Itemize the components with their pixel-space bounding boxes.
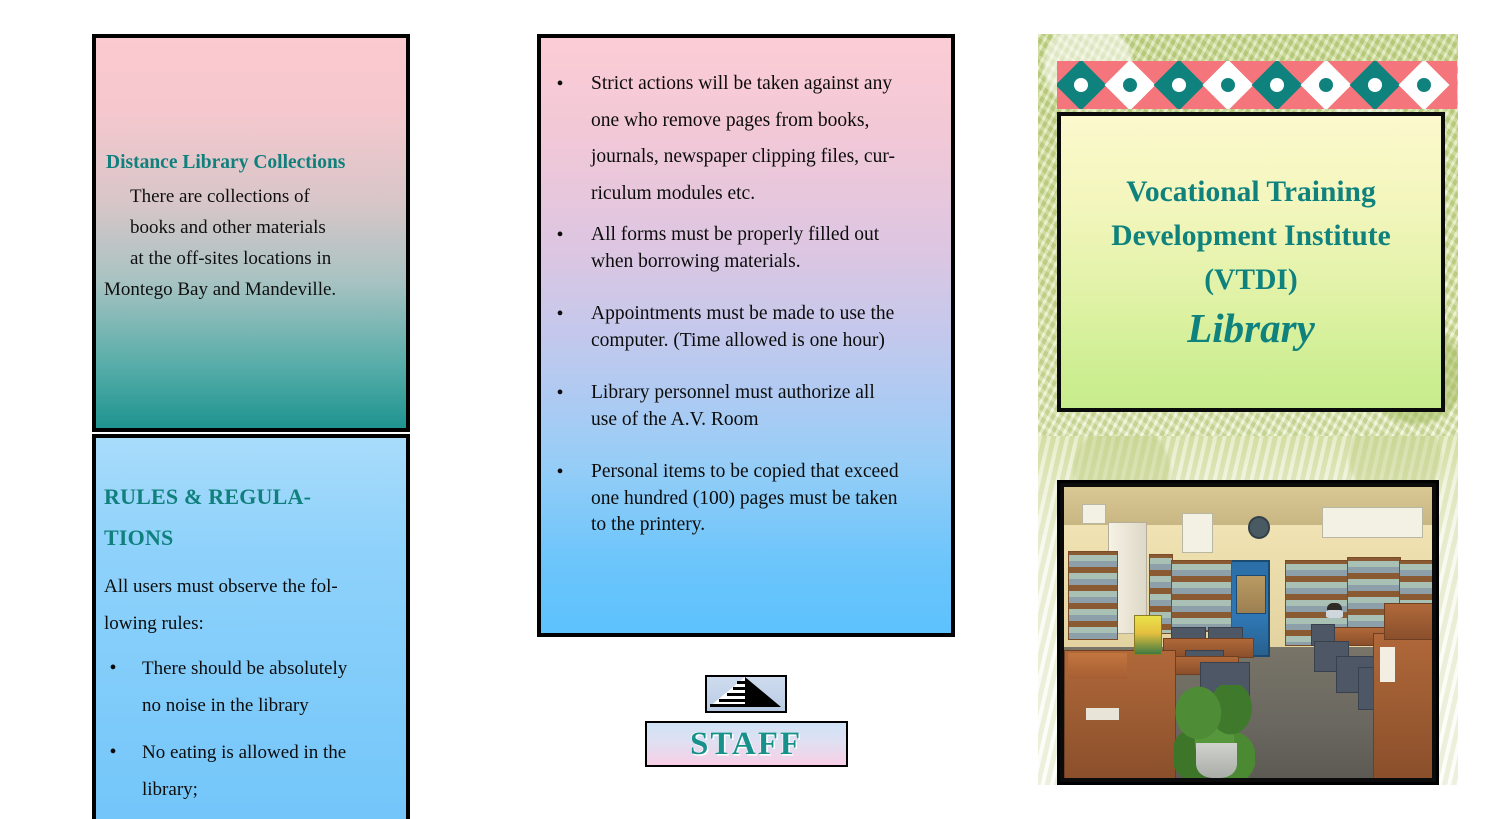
- diamond-dot: [1365, 75, 1385, 95]
- distance-collections-panel: Distance Library Collections There are c…: [92, 34, 410, 432]
- list-item-line: journals, newspaper clipping files, cur-: [591, 146, 895, 167]
- photo-plant-pot: [1196, 743, 1236, 778]
- photo-content: [1064, 487, 1432, 778]
- rules-intro-line: All users must observe the fol-: [100, 568, 398, 605]
- rules-bullet-list: • There should be absolutely no noise in…: [100, 650, 398, 808]
- title-line-2: Development Institute: [1111, 214, 1390, 258]
- list-item-line: computer. (Time allowed is one hour): [591, 330, 885, 351]
- list-item-line: one who remove pages from books,: [591, 110, 869, 131]
- list-item-line: riculum modules etc.: [591, 183, 755, 204]
- bullet-icon: •: [553, 222, 567, 249]
- photo-paper: [1380, 647, 1395, 682]
- diamond-icon: [1105, 61, 1156, 109]
- right-panel-column: Vocational Training Development Institut…: [1038, 34, 1458, 785]
- rules-continued-list: • Strict actions will be taken against a…: [545, 66, 941, 539]
- list-item-line: use of the A.V. Room: [591, 409, 759, 430]
- bullet-icon: •: [553, 66, 567, 103]
- list-item-line: Personal items to be copied that exceed: [591, 461, 899, 482]
- photo-bookshelf: [1171, 560, 1232, 632]
- rules-intro-line: lowing rules:: [100, 605, 398, 642]
- list-item-line: Appointments must be made to use the: [591, 303, 894, 324]
- list-item-line: Library personnel must authorize all: [591, 382, 875, 403]
- diamond-icon: [1350, 61, 1401, 109]
- photo-door-window: [1236, 575, 1266, 614]
- list-item-line: library;: [142, 779, 198, 800]
- photo-book-display: [1134, 615, 1162, 655]
- bullet-icon: •: [553, 380, 567, 407]
- photo-bookshelf: [1068, 551, 1118, 640]
- diamond-icon: [1203, 61, 1254, 109]
- photo-poster: [1182, 513, 1213, 553]
- library-interior-photo: [1057, 480, 1439, 785]
- list-item-line: There should be absolutely: [142, 658, 347, 679]
- photo-books: [1086, 708, 1119, 720]
- diamond-icon: [1399, 61, 1450, 109]
- brochure-title-box: Vocational Training Development Institut…: [1057, 112, 1445, 412]
- middle-panel-column: • Strict actions will be taken against a…: [537, 34, 955, 637]
- diamond-icon: [1252, 61, 1303, 109]
- rules-intro: All users must observe the fol- lowing r…: [100, 568, 398, 642]
- diamond-border-band: [1057, 61, 1457, 109]
- list-item: • Strict actions will be taken against a…: [545, 66, 941, 212]
- list-item-line: when borrowing materials.: [591, 251, 801, 272]
- photo-shelf-top: [1068, 653, 1127, 679]
- bullet-icon: •: [106, 734, 120, 771]
- list-item-line: to the printery.: [591, 514, 705, 535]
- title-line-1: Vocational Training: [1126, 170, 1375, 214]
- list-item-line: Strict actions will be taken against any: [591, 73, 892, 94]
- diamond-dot: [1169, 75, 1189, 95]
- rules-heading: RULES & REGULA- TIONS: [104, 476, 398, 558]
- rules-continued-panel: • Strict actions will be taken against a…: [537, 34, 955, 637]
- photo-poster: [1322, 507, 1423, 538]
- distance-collections-line: at the off-sites locations in: [100, 243, 400, 274]
- staff-block: STAFF: [537, 675, 955, 767]
- diamond-icon: [1057, 61, 1106, 109]
- rules-and-regulations-panel: RULES & REGULA- TIONS All users must obs…: [92, 434, 410, 819]
- list-item: • There should be absolutely no noise in…: [100, 650, 398, 724]
- list-item-line: No eating is allowed in the: [142, 742, 346, 763]
- bullet-icon: •: [553, 301, 567, 328]
- photo-poster: [1082, 504, 1106, 523]
- diamond-dot: [1218, 75, 1238, 95]
- title-line-3: (VTDI): [1204, 258, 1297, 302]
- stairs-icon: [705, 675, 787, 713]
- list-item: • Personal items to be copied that excee…: [545, 459, 941, 539]
- bullet-icon: •: [106, 650, 120, 687]
- rules-heading-line1: RULES & REGULA-: [104, 476, 398, 517]
- photo-person: [1327, 603, 1342, 618]
- list-item: • No eating is allowed in the library;: [100, 734, 398, 808]
- list-item-line: All forms must be properly filled out: [591, 224, 879, 245]
- distance-collections-line: books and other materials: [100, 212, 400, 243]
- diamond-dot: [1316, 75, 1336, 95]
- list-item-line: one hundred (100) pages must be taken: [591, 488, 898, 509]
- list-item-line: no noise in the library: [142, 695, 309, 716]
- distance-collections-heading: Distance Library Collections: [106, 150, 400, 175]
- diamond-dot: [1414, 75, 1434, 95]
- list-item: • All forms must be properly filled out …: [545, 222, 941, 275]
- photo-cabinet: [1384, 603, 1432, 640]
- rules-heading-line2: TIONS: [104, 517, 398, 558]
- distance-collections-line: Montego Bay and Mandeville.: [100, 274, 400, 305]
- list-item: • Library personnel must authorize all u…: [545, 380, 941, 433]
- list-item: • Appointments must be made to use the c…: [545, 301, 941, 354]
- distance-collections-line: There are collections of: [100, 181, 400, 212]
- diamond-dot: [1071, 75, 1091, 95]
- diamond-icon: [1301, 61, 1352, 109]
- staff-button[interactable]: STAFF: [645, 721, 848, 767]
- diamond-dot: [1267, 75, 1287, 95]
- bullet-icon: •: [553, 459, 567, 486]
- left-panel-column: Distance Library Collections There are c…: [92, 34, 410, 785]
- diamond-icon: [1154, 61, 1205, 109]
- photo-person-shirt: [1326, 610, 1344, 618]
- title-line-library: Library: [1187, 302, 1315, 354]
- diamond-dot: [1120, 75, 1140, 95]
